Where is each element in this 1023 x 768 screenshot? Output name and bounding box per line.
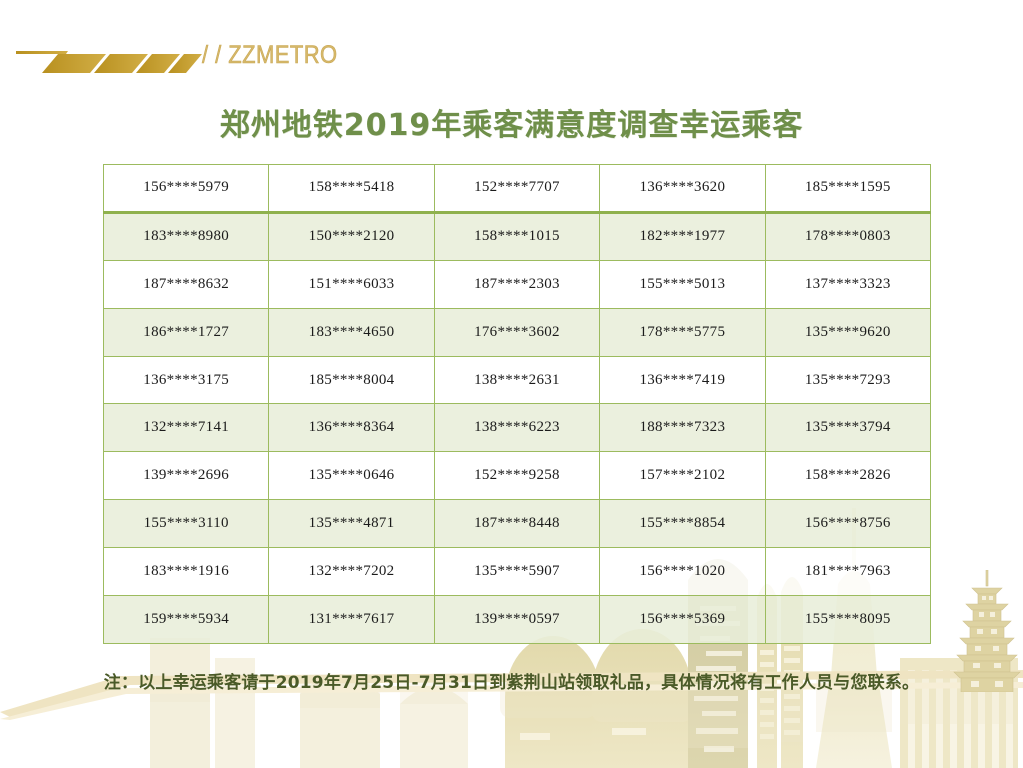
slide-canvas: / / ZZMETRO 郑州地铁2019年乘客满意度调查幸运乘客 156****… <box>0 0 1023 768</box>
phone-cell: 176****3602 <box>434 308 599 356</box>
zzmetro-wordmark: / / ZZMETRO <box>202 43 338 68</box>
phone-cell: 135****9620 <box>765 308 930 356</box>
zzmetro-logo[interactable]: / / ZZMETRO <box>14 26 344 84</box>
lucky-passengers-table: 156****5979158****5418152****7707136****… <box>103 164 931 644</box>
phone-cell: 135****3794 <box>765 404 930 452</box>
phone-cell: 139****0597 <box>434 596 599 644</box>
table-body: 156****5979158****5418152****7707136****… <box>104 165 931 644</box>
phone-cell: 158****2826 <box>765 452 930 500</box>
phone-cell: 155****3110 <box>104 500 269 548</box>
speed-bars-icon <box>14 29 204 81</box>
phone-cell: 135****0646 <box>269 452 434 500</box>
phone-cell: 132****7141 <box>104 404 269 452</box>
phone-cell: 188****7323 <box>600 404 765 452</box>
phone-cell: 183****4650 <box>269 308 434 356</box>
phone-cell: 135****7293 <box>765 356 930 404</box>
phone-cell: 186****1727 <box>104 308 269 356</box>
phone-cell: 136****8364 <box>269 404 434 452</box>
phone-cell: 132****7202 <box>269 548 434 596</box>
phone-cell: 139****2696 <box>104 452 269 500</box>
table-row: 159****5934131****7617139****0597156****… <box>104 596 931 644</box>
table-row: 183****8980150****2120158****1015182****… <box>104 212 931 260</box>
phone-cell: 181****7963 <box>765 548 930 596</box>
phone-cell: 151****6033 <box>269 260 434 308</box>
phone-cell: 137****3323 <box>765 260 930 308</box>
phone-cell: 183****8980 <box>104 212 269 260</box>
phone-cell: 156****8756 <box>765 500 930 548</box>
phone-cell: 156****1020 <box>600 548 765 596</box>
table-row: 186****1727183****4650176****3602178****… <box>104 308 931 356</box>
phone-cell: 156****5369 <box>600 596 765 644</box>
phone-cell: 152****9258 <box>434 452 599 500</box>
page-title: 郑州地铁2019年乘客满意度调查幸运乘客 <box>0 108 1023 144</box>
footer-note: 注：以上幸运乘客请于2019年7月25日-7月31日到紫荆山站领取礼品，具体情况… <box>0 668 1023 693</box>
phone-cell: 135****5907 <box>434 548 599 596</box>
table-row: 156****5979158****5418152****7707136****… <box>104 165 931 213</box>
table-row: 187****8632151****6033187****2303155****… <box>104 260 931 308</box>
phone-cell: 138****2631 <box>434 356 599 404</box>
table-row: 136****3175185****8004138****2631136****… <box>104 356 931 404</box>
phone-cell: 187****8448 <box>434 500 599 548</box>
table-row: 139****2696135****0646152****9258157****… <box>104 452 931 500</box>
phone-cell: 185****1595 <box>765 165 930 213</box>
phone-cell: 136****7419 <box>600 356 765 404</box>
phone-cell: 178****0803 <box>765 212 930 260</box>
phone-cell: 131****7617 <box>269 596 434 644</box>
phone-cell: 136****3620 <box>600 165 765 213</box>
phone-cell: 182****1977 <box>600 212 765 260</box>
phone-cell: 159****5934 <box>104 596 269 644</box>
table-row: 132****7141136****8364138****6223188****… <box>104 404 931 452</box>
phone-cell: 155****8854 <box>600 500 765 548</box>
phone-cell: 157****2102 <box>600 452 765 500</box>
phone-cell: 136****3175 <box>104 356 269 404</box>
phone-cell: 150****2120 <box>269 212 434 260</box>
phone-cell: 156****5979 <box>104 165 269 213</box>
phone-cell: 185****8004 <box>269 356 434 404</box>
phone-cell: 138****6223 <box>434 404 599 452</box>
table-row: 183****1916132****7202135****5907156****… <box>104 548 931 596</box>
phone-cell: 187****2303 <box>434 260 599 308</box>
phone-cell: 178****5775 <box>600 308 765 356</box>
phone-cell: 158****1015 <box>434 212 599 260</box>
phone-cell: 158****5418 <box>269 165 434 213</box>
phone-cell: 135****4871 <box>269 500 434 548</box>
phone-cell: 187****8632 <box>104 260 269 308</box>
phone-cell: 152****7707 <box>434 165 599 213</box>
phone-cell: 183****1916 <box>104 548 269 596</box>
phone-cell: 155****5013 <box>600 260 765 308</box>
phone-cell: 155****8095 <box>765 596 930 644</box>
table-row: 155****3110135****4871187****8448155****… <box>104 500 931 548</box>
